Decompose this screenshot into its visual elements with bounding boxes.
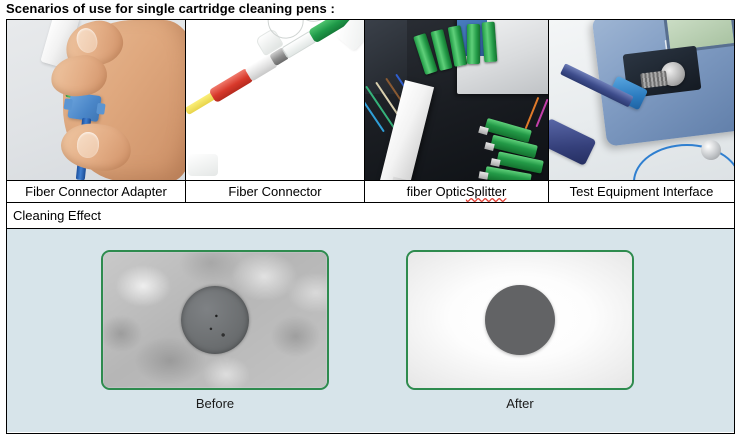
photo-cell-fiber-connector[interactable] <box>186 20 365 180</box>
caption-text: Test Equipment Interface <box>570 184 714 199</box>
caption-text-misspelled: Splitter <box>466 184 506 199</box>
scenarios-table: Fiber Connector Adapter Fiber Connector … <box>6 19 735 434</box>
caption-test-equipment-interface: Test Equipment Interface <box>549 181 734 202</box>
endface-before-inner <box>103 252 327 388</box>
cleaning-effect-panel: Before After <box>7 229 734 432</box>
endface-caption-before: Before <box>101 396 329 411</box>
green-sc-apc-connector-icon <box>482 22 498 63</box>
green-sc-apc-connector-icon <box>467 24 480 64</box>
endface-image-after <box>406 250 634 390</box>
caption-text: Fiber Connector Adapter <box>25 184 167 199</box>
fiber-core-dirty <box>181 286 249 354</box>
caption-text: Fiber Connector <box>228 184 321 199</box>
caption-fiber-connector-adapter: Fiber Connector Adapter <box>7 181 186 202</box>
knurled-adapter-nut-icon <box>640 70 668 88</box>
photo-cell-fiber-optic-splitter[interactable] <box>365 20 549 180</box>
photo-cell-test-equipment-interface[interactable] <box>549 20 734 180</box>
endface-caption-after: After <box>406 396 634 411</box>
endface-image-before <box>101 250 329 390</box>
photo-cell-fiber-connector-adapter[interactable] <box>7 20 186 180</box>
caption-text: fiber Optic <box>407 184 466 199</box>
endface-after-inner <box>408 252 632 388</box>
caption-fiber-connector: Fiber Connector <box>186 181 365 202</box>
cleaning-effect-label-row: Cleaning Effect <box>7 203 734 229</box>
caption-fiber-optic-splitter: fiber Optic Splitter <box>365 181 549 202</box>
cleaning-effect-label: Cleaning Effect <box>13 208 101 223</box>
connector-ferrule-icon <box>478 171 488 179</box>
page-title: Scenarios of use for single cartridge cl… <box>6 1 335 16</box>
metal-knob-icon <box>701 140 721 160</box>
white-support-block-icon <box>188 154 218 176</box>
photo-row <box>7 20 734 181</box>
caption-row: Fiber Connector Adapter Fiber Connector … <box>7 181 734 203</box>
fiber-core-clean <box>485 285 555 355</box>
